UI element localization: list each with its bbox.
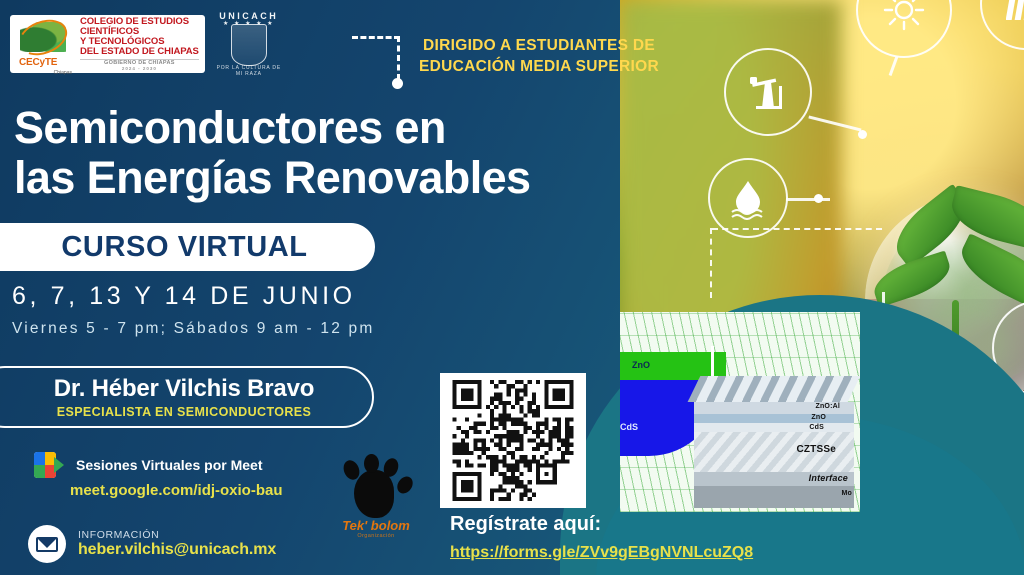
poster-canvas: ZnO CdS ZnO:Al ZnO CdS CZTSSe Interface … (0, 0, 1024, 575)
tekbolom-name: Tek' bolom (330, 518, 422, 533)
speaker-badge: Dr. Héber Vilchis Bravo ESPECIALISTA EN … (0, 366, 374, 428)
unicach-motto: POR LA CULTURA DE MI RAZA (213, 65, 285, 77)
contact-email[interactable]: heber.vilchis@unicach.mx (78, 541, 276, 559)
label-zno: ZnO (811, 414, 826, 421)
layer-zno (694, 414, 854, 423)
cecyte-state: Chiapas (54, 70, 72, 76)
course-dates: 6, 7, 13 Y 14 DE JUNIO (12, 282, 356, 311)
google-meet-icon (34, 452, 64, 478)
content-panel: CECyTE Chiapas COLEGIO DE ESTUDIOS CIENT… (0, 0, 660, 575)
contact-row[interactable]: INFORMACIÓN heber.vilchis@unicach.mx (28, 525, 276, 563)
logo-bar: CECyTE Chiapas COLEGIO DE ESTUDIOS CIENT… (10, 8, 285, 80)
paw-print-icon (338, 454, 414, 520)
badge-label: CURSO VIRTUAL (37, 231, 307, 264)
tekbolom-tagline: Organización (330, 533, 422, 539)
layer-top-contacts (688, 376, 860, 402)
course-type-badge: CURSO VIRTUAL (0, 223, 375, 271)
register-link[interactable]: https://forms.gle/ZVv9gEBgNVNLcuZQ8 (450, 544, 753, 562)
page-title: Semiconductores en las Energías Renovabl… (14, 103, 530, 204)
contact-label: INFORMACIÓN (78, 529, 276, 541)
meet-row[interactable]: Sesiones Virtuales por Meet (34, 452, 262, 478)
dashed-decoration (352, 36, 412, 82)
audience-line-2: EDUCACIÓN MEDIA SUPERIOR (419, 57, 659, 78)
layer-mo (694, 486, 854, 508)
cecyte-institution-name: COLEGIO DE ESTUDIOS CIENTÍFICOS Y TECNOL… (80, 17, 199, 72)
register-label: Regístrate aquí: (450, 513, 601, 536)
envelope-icon (28, 525, 66, 563)
course-hours: Viernes 5 - 7 pm; Sábados 9 am - 12 pm (12, 320, 374, 338)
layer-stack: ZnO:Al ZnO CdS CZTSSe Interface Mo (694, 376, 854, 508)
cecyte-mark-icon: CECyTE Chiapas (16, 20, 74, 68)
label-znoal: ZnO:Al (815, 403, 840, 410)
meet-text: Sesiones Virtuales por Meet (76, 457, 262, 473)
meet-link[interactable]: meet.google.com/idj-oxio-bau (70, 482, 283, 499)
cecyte-line-4: DEL ESTADO DE CHIAPAS (80, 47, 199, 57)
qr-code[interactable] (440, 373, 586, 508)
tekbolom-logo: Tek' bolom Organización (330, 452, 422, 552)
audience-text: DIRIGIDO A ESTUDIANTES DE EDUCACIÓN MEDI… (419, 36, 659, 78)
label-mo: Mo (841, 490, 852, 497)
title-line-1: Semiconductores en (14, 103, 530, 153)
title-line-2: las Energías Renovables (14, 153, 530, 203)
government-period: 2024 - 2030 (80, 67, 199, 72)
contact-text: INFORMACIÓN heber.vilchis@unicach.mx (78, 529, 276, 559)
speaker-specialty: ESPECIALISTA EN SEMICONDUCTORES (57, 405, 312, 419)
label-cztsse: CZTSSe (796, 444, 836, 455)
cecyte-government: GOBIERNO DE CHIAPAS 2024 - 2030 (80, 59, 199, 72)
cecyte-logo: CECyTE Chiapas COLEGIO DE ESTUDIOS CIENT… (10, 15, 205, 73)
audience-line-1: DIRIGIDO A ESTUDIANTES DE (419, 36, 659, 57)
label-interface: Interface (809, 473, 848, 483)
layer-cds (694, 423, 854, 432)
cecyte-wordmark: CECyTE (19, 57, 57, 68)
speaker-name: Dr. Héber Vilchis Bravo (54, 375, 314, 403)
unicach-shield-icon (231, 24, 267, 66)
unicach-logo: UNICACH ★ ★ ★ ★ ★ POR LA CULTURA DE MI R… (213, 8, 285, 80)
meet-label: Sesiones Virtuales por Meet (76, 457, 262, 473)
label-cds: CdS (809, 424, 824, 431)
